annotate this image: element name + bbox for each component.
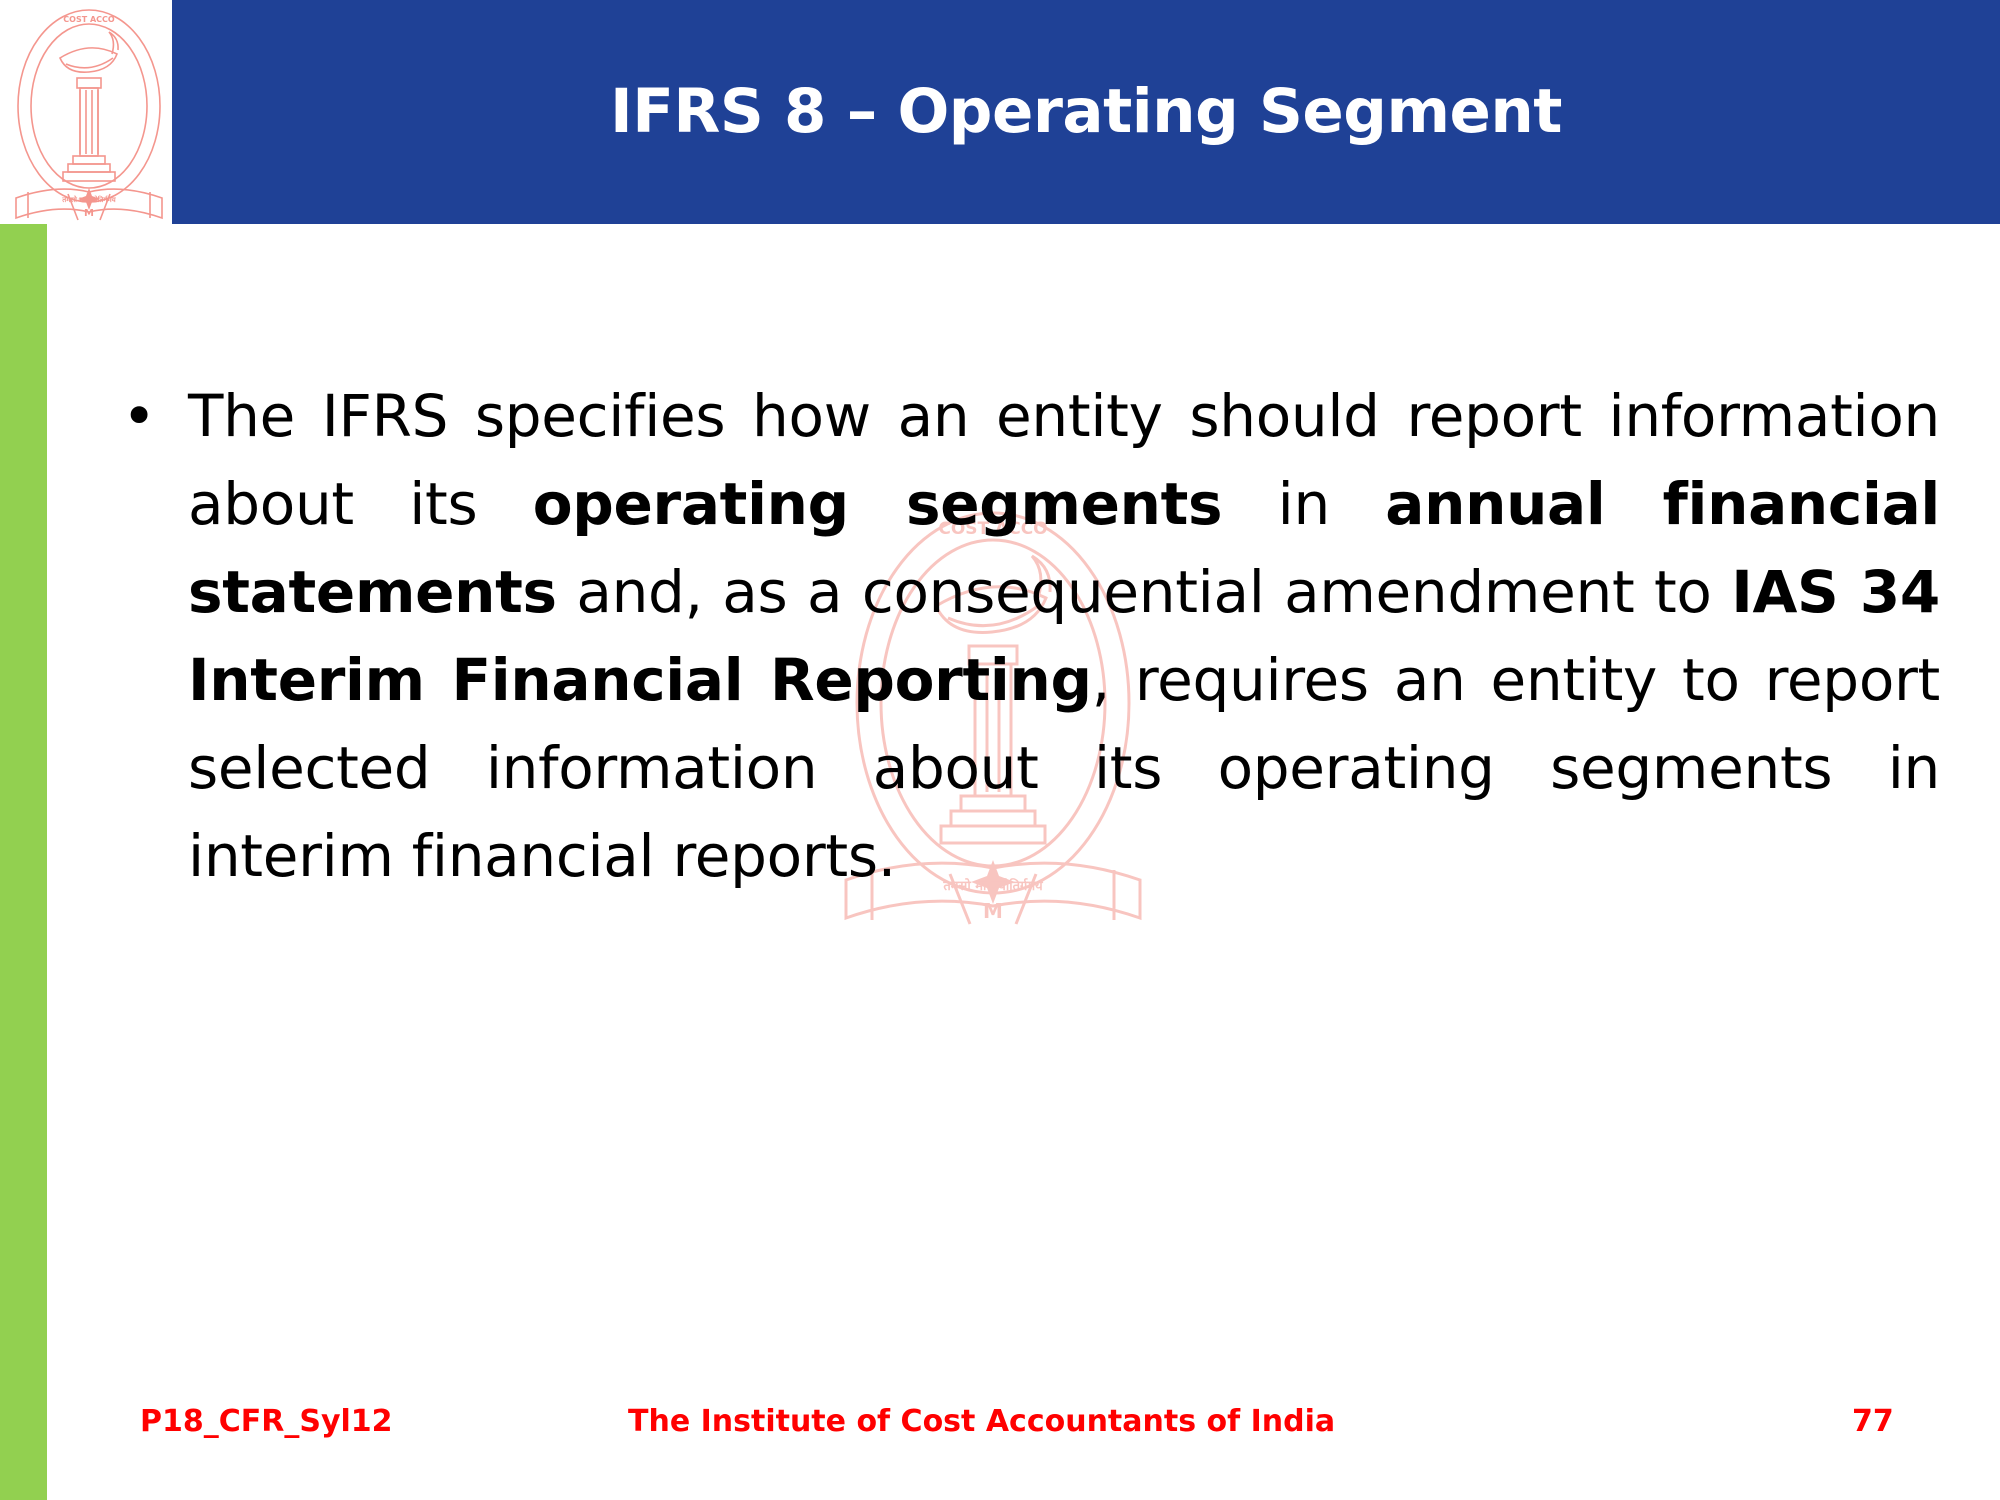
- bullet-item: • The IFRS specifies how an entity shoul…: [110, 372, 1940, 900]
- footer-institute-name: The Institute of Cost Accountants of Ind…: [628, 1404, 1335, 1439]
- svg-text:M: M: [983, 899, 1003, 923]
- body-content: • The IFRS specifies how an entity shoul…: [110, 372, 1940, 900]
- icai-logo-icon: M COST ACCO तमसो मा ज्योतिर्गमय: [8, 2, 170, 224]
- emphasised-text: operating segments: [533, 470, 1223, 538]
- footer-page-number: 77: [1852, 1404, 1894, 1439]
- slide-canvas: IFRS 8 – Operating Segment: [0, 0, 2000, 1500]
- plain-text: in: [1222, 470, 1385, 538]
- footer: P18_CFR_Syl12 The Institute of Cost Acco…: [0, 1404, 2000, 1464]
- title-banner: IFRS 8 – Operating Segment: [172, 0, 2000, 224]
- bullet-text-container: The IFRS specifies how an entity should …: [188, 372, 1940, 900]
- plain-text: and, as a consequential amendment to: [557, 558, 1731, 626]
- footer-course-code: P18_CFR_Syl12: [140, 1404, 393, 1439]
- page-title: IFRS 8 – Operating Segment: [610, 78, 1562, 145]
- svg-text:COST ACCO: COST ACCO: [63, 15, 115, 24]
- svg-text:तमसो मा ज्योतिर्गमय: तमसो मा ज्योतिर्गमय: [61, 195, 116, 204]
- bullet-marker: •: [110, 372, 188, 460]
- svg-text:M: M: [84, 208, 94, 219]
- left-accent-bar: [0, 224, 47, 1500]
- paragraph-text: The IFRS specifies how an entity should …: [188, 372, 1940, 900]
